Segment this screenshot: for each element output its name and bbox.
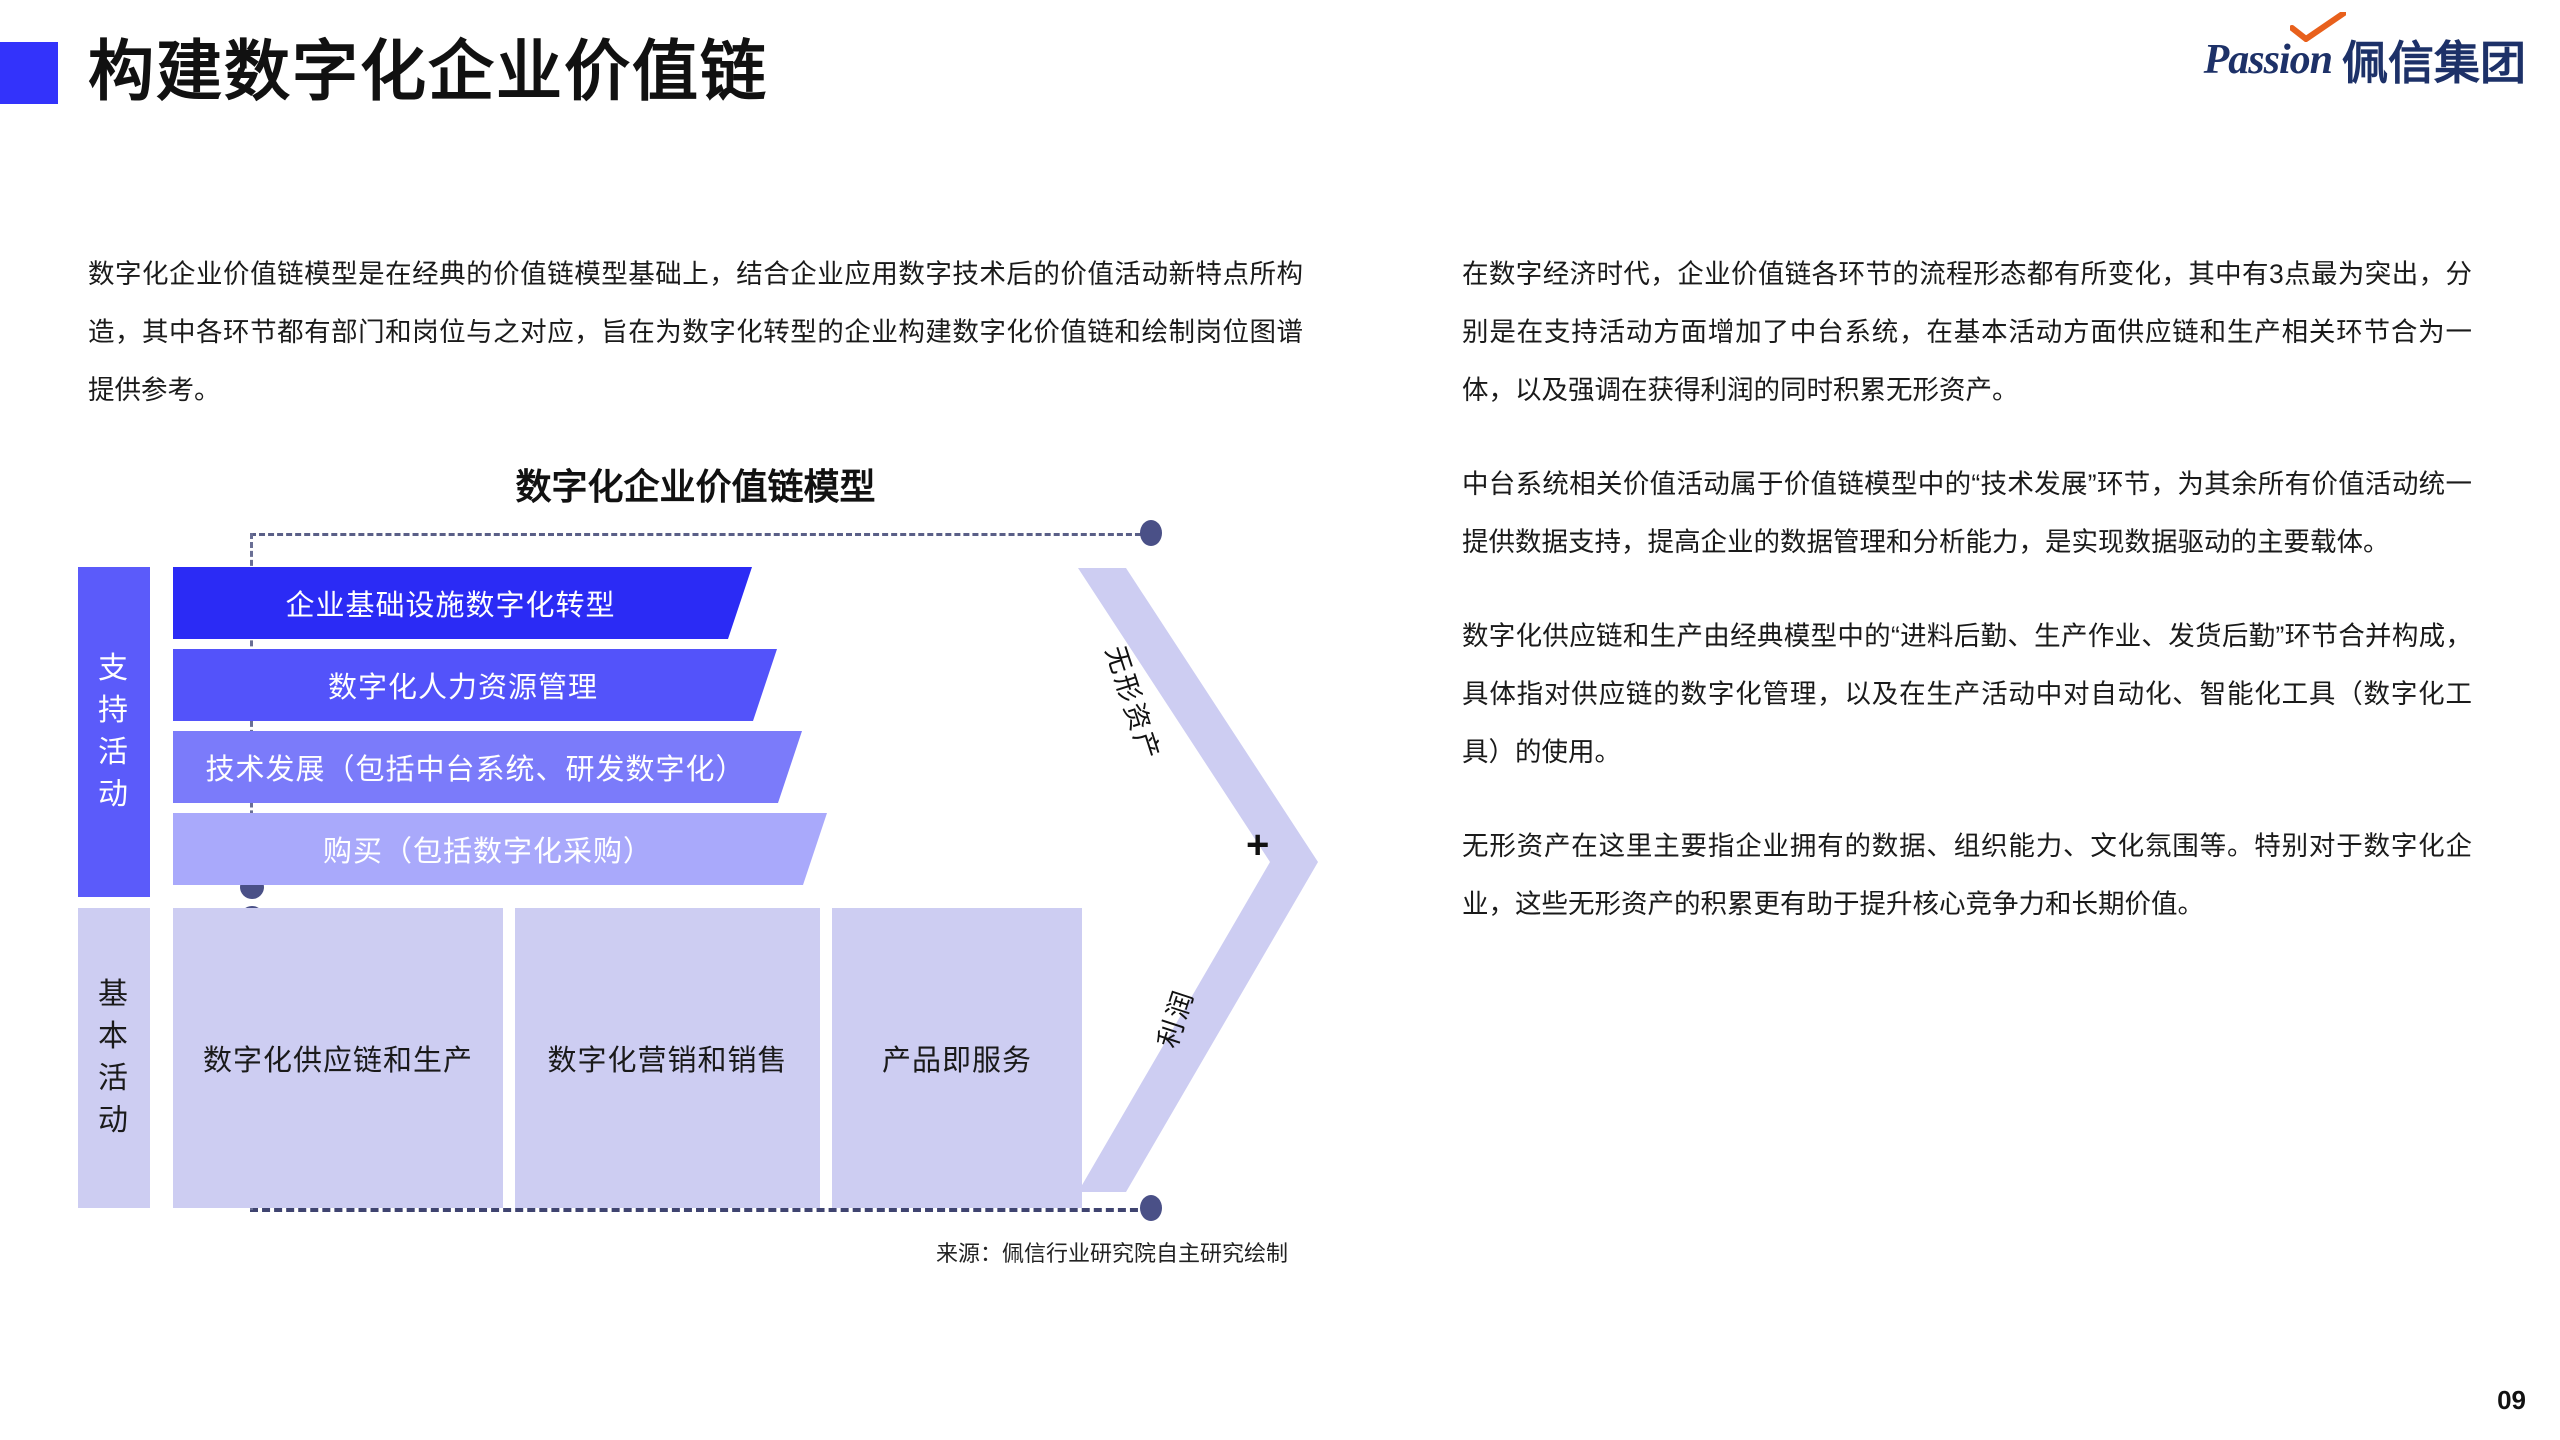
primary-activity-label-3: 产品即服务 xyxy=(882,1037,1032,1079)
primary-activity-label-1: 数字化供应链和生产 xyxy=(203,1037,473,1079)
support-activity-bar-4: 购买（包括数字化采购） xyxy=(173,813,803,885)
logo-chinese-text: 佩信集团 xyxy=(2342,27,2526,93)
value-chain-diagram: 支持活动 基本活动 企业基础设施数字化转型 数字化人力资源管理 技术发展（包括中… xyxy=(78,520,1348,1220)
brand-logo: Passion 佩信集团 xyxy=(2204,30,2526,90)
intro-paragraph: 数字化企业价值链模型是在经典的价值链模型基础上，结合企业应用数字技术后的价值活动… xyxy=(88,245,1303,419)
right-paragraph-1: 在数字经济时代，企业价值链各环节的流程形态都有所变化，其中有3点最为突出，分别是… xyxy=(1462,245,2472,419)
chart-title: 数字化企业价值链模型 xyxy=(88,458,1303,510)
check-icon xyxy=(2290,12,2346,42)
logo-latin-text: Passion xyxy=(2204,36,2332,84)
category-band-support: 支持活动 xyxy=(78,567,150,897)
page-number: 09 xyxy=(2497,1385,2526,1416)
support-activity-label-4: 购买（包括数字化采购） xyxy=(323,828,653,870)
primary-activity-label-2: 数字化营销和销售 xyxy=(547,1037,787,1079)
support-activity-bar-2: 数字化人力资源管理 xyxy=(173,649,753,721)
page-title: 构建数字化企业价值链 xyxy=(88,28,768,114)
primary-activity-box-3: 产品即服务 xyxy=(832,908,1082,1208)
category-support-label: 支持活动 xyxy=(98,648,130,816)
right-paragraph-4: 无形资产在这里主要指企业拥有的数据、组织能力、文化氛围等。特别对于数字化企业，这… xyxy=(1462,817,2472,933)
dashed-line-top xyxy=(250,533,1150,536)
support-activity-bar-1: 企业基础设施数字化转型 xyxy=(173,567,728,639)
category-primary-label: 基本活动 xyxy=(98,974,130,1142)
primary-activity-box-1: 数字化供应链和生产 xyxy=(173,908,503,1208)
title-accent-block xyxy=(0,42,58,104)
endpoint-dot-top-right xyxy=(1140,520,1162,546)
outcome-operator-plus: + xyxy=(1246,823,1272,868)
right-paragraph-2: 中台系统相关价值活动属于价值链模型中的“技术发展”环节，为其余所有价值活动统一提… xyxy=(1462,455,2472,571)
dashed-line-bottom xyxy=(250,1208,1150,1212)
right-text-column: 在数字经济时代，企业价值链各环节的流程形态都有所变化，其中有3点最为突出，分别是… xyxy=(1462,245,2472,933)
slide-page: 构建数字化企业价值链 Passion 佩信集团 数字化企业价值链模型是在经典的价… xyxy=(0,0,2560,1440)
support-activity-label-3: 技术发展（包括中台系统、研发数字化） xyxy=(205,746,745,788)
category-band-primary: 基本活动 xyxy=(78,908,150,1208)
support-activity-bar-3: 技术发展（包括中台系统、研发数字化） xyxy=(173,731,778,803)
right-paragraph-3: 数字化供应链和生产由经典模型中的“进料后勤、生产作业、发货后勤”环节合并构成，具… xyxy=(1462,607,2472,781)
chart-source-note: 来源：佩信行业研究院自主研究绘制 xyxy=(78,1236,1348,1268)
support-activity-label-1: 企业基础设施数字化转型 xyxy=(285,582,615,624)
primary-activity-box-2: 数字化营销和销售 xyxy=(515,908,820,1208)
support-activity-label-2: 数字化人力资源管理 xyxy=(328,664,598,706)
